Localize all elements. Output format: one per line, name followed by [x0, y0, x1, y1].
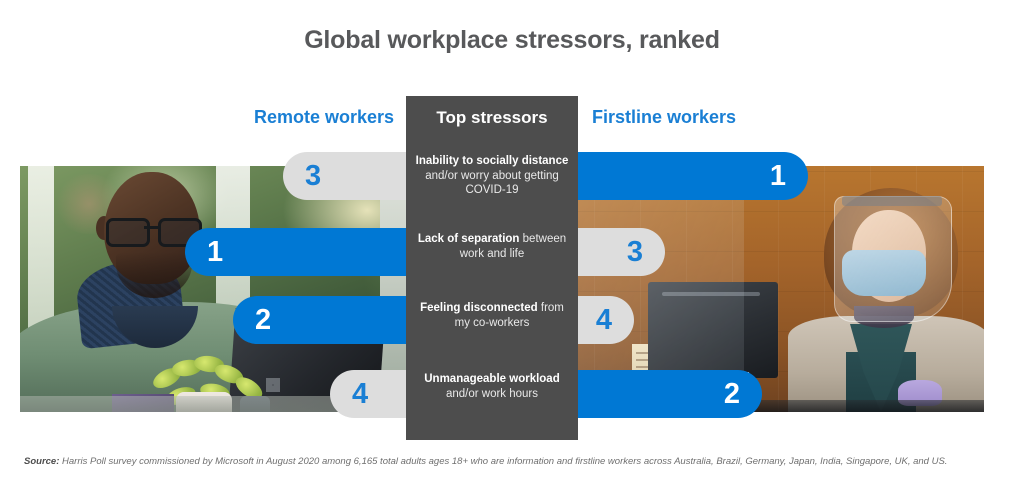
rank-number: 2 [255, 306, 271, 335]
stressor-label-rest: and/or work hours [446, 388, 538, 400]
top-stressors-title: Top stressors [406, 108, 578, 128]
stressor-label-bold: Feeling disconnected [420, 302, 538, 314]
rank-number: 3 [305, 162, 321, 191]
stressor-label-rest: and/or worry about getting COVID-19 [425, 170, 559, 197]
stressor-item-3: Feeling disconnected from my co-workers [412, 301, 572, 330]
column-heading-remote-workers: Remote workers [254, 107, 394, 128]
page-title: Global workplace stressors, ranked [0, 26, 1024, 55]
glasses-lens-left [106, 218, 150, 247]
rank-number: 1 [770, 162, 786, 191]
photo-face-shield-band [842, 196, 942, 206]
stressor-item-1: Inability to socially distance and/or wo… [412, 154, 572, 198]
column-heading-firstline-workers: Firstline workers [592, 107, 736, 128]
glasses-bridge [144, 226, 158, 229]
stressor-label-bold: Lack of separation [418, 233, 520, 245]
stressor-item-2: Lack of separation between work and life [412, 232, 572, 261]
rank-number: 3 [627, 238, 643, 267]
source-footnote: Source: Harris Poll survey commissioned … [24, 456, 1004, 467]
rank-number: 1 [207, 238, 223, 267]
source-label: Source: [24, 456, 59, 467]
rank-number: 4 [596, 306, 612, 335]
stressor-label-bold: Unmanageable workload [424, 373, 559, 385]
stressor-item-4: Unmanageable workload and/or work hours [412, 372, 572, 401]
source-text: Harris Poll survey commissioned by Micro… [59, 456, 947, 467]
rank-number: 4 [352, 380, 368, 409]
top-stressors-panel: Top stressors Inability to socially dist… [406, 96, 578, 440]
stressor-label-bold: Inability to socially distance [416, 155, 569, 167]
photo-face-shield [834, 196, 952, 322]
rank-number: 2 [724, 380, 740, 409]
